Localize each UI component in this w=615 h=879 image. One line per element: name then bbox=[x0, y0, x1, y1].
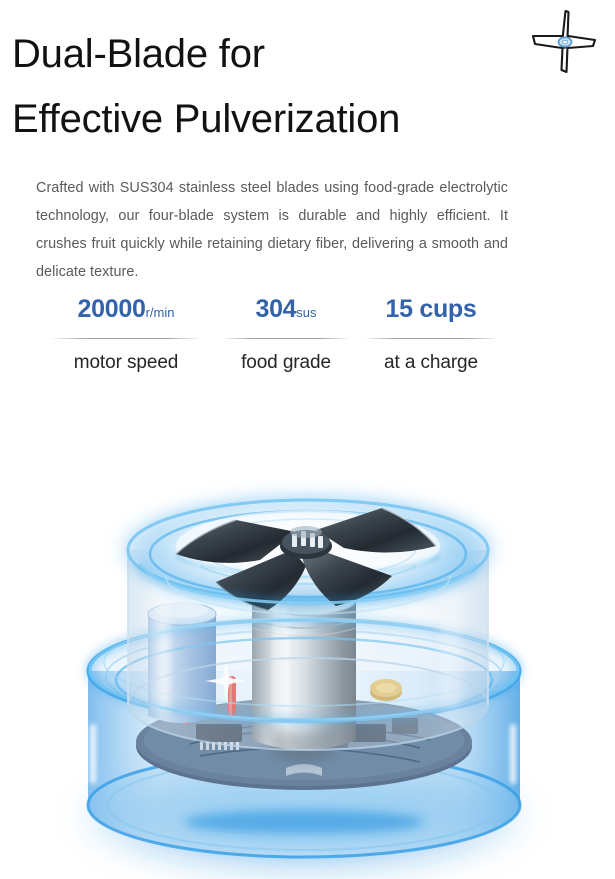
stat-value: 15 cups bbox=[385, 297, 476, 324]
four-blade-icon bbox=[529, 6, 597, 78]
stat-label: motor speed bbox=[74, 352, 179, 374]
page-title-line-1: Dual-Blade for bbox=[12, 22, 532, 87]
stat-value: 304sus bbox=[255, 297, 316, 324]
description-paragraph: Crafted with SUS304 stainless steel blad… bbox=[36, 175, 508, 286]
stat-suffix: r/min bbox=[146, 305, 175, 320]
stats-row: 20000r/min motor speed 304sus food grade… bbox=[36, 297, 506, 374]
stat-divider bbox=[50, 338, 202, 339]
product-image bbox=[0, 424, 615, 879]
stat-value: 20000r/min bbox=[78, 297, 175, 324]
stat-label: at a charge bbox=[384, 352, 478, 374]
stat-food-grade: 304sus food grade bbox=[216, 297, 356, 374]
cutaway-blender-illustration bbox=[0, 424, 615, 879]
stat-divider bbox=[222, 338, 350, 339]
page-title: Dual-Blade for Effective Pulverization bbox=[12, 22, 532, 152]
stat-motor-speed: 20000r/min motor speed bbox=[36, 297, 216, 374]
page-title-line-2: Effective Pulverization bbox=[12, 87, 532, 152]
stat-capacity: 15 cups at a charge bbox=[356, 297, 506, 374]
stat-suffix: sus bbox=[296, 305, 316, 320]
stat-number: 304 bbox=[255, 295, 296, 323]
stat-label: food grade bbox=[241, 352, 331, 374]
stat-divider bbox=[363, 338, 499, 339]
stat-number: 15 cups bbox=[385, 295, 476, 323]
stat-number: 20000 bbox=[78, 295, 146, 323]
